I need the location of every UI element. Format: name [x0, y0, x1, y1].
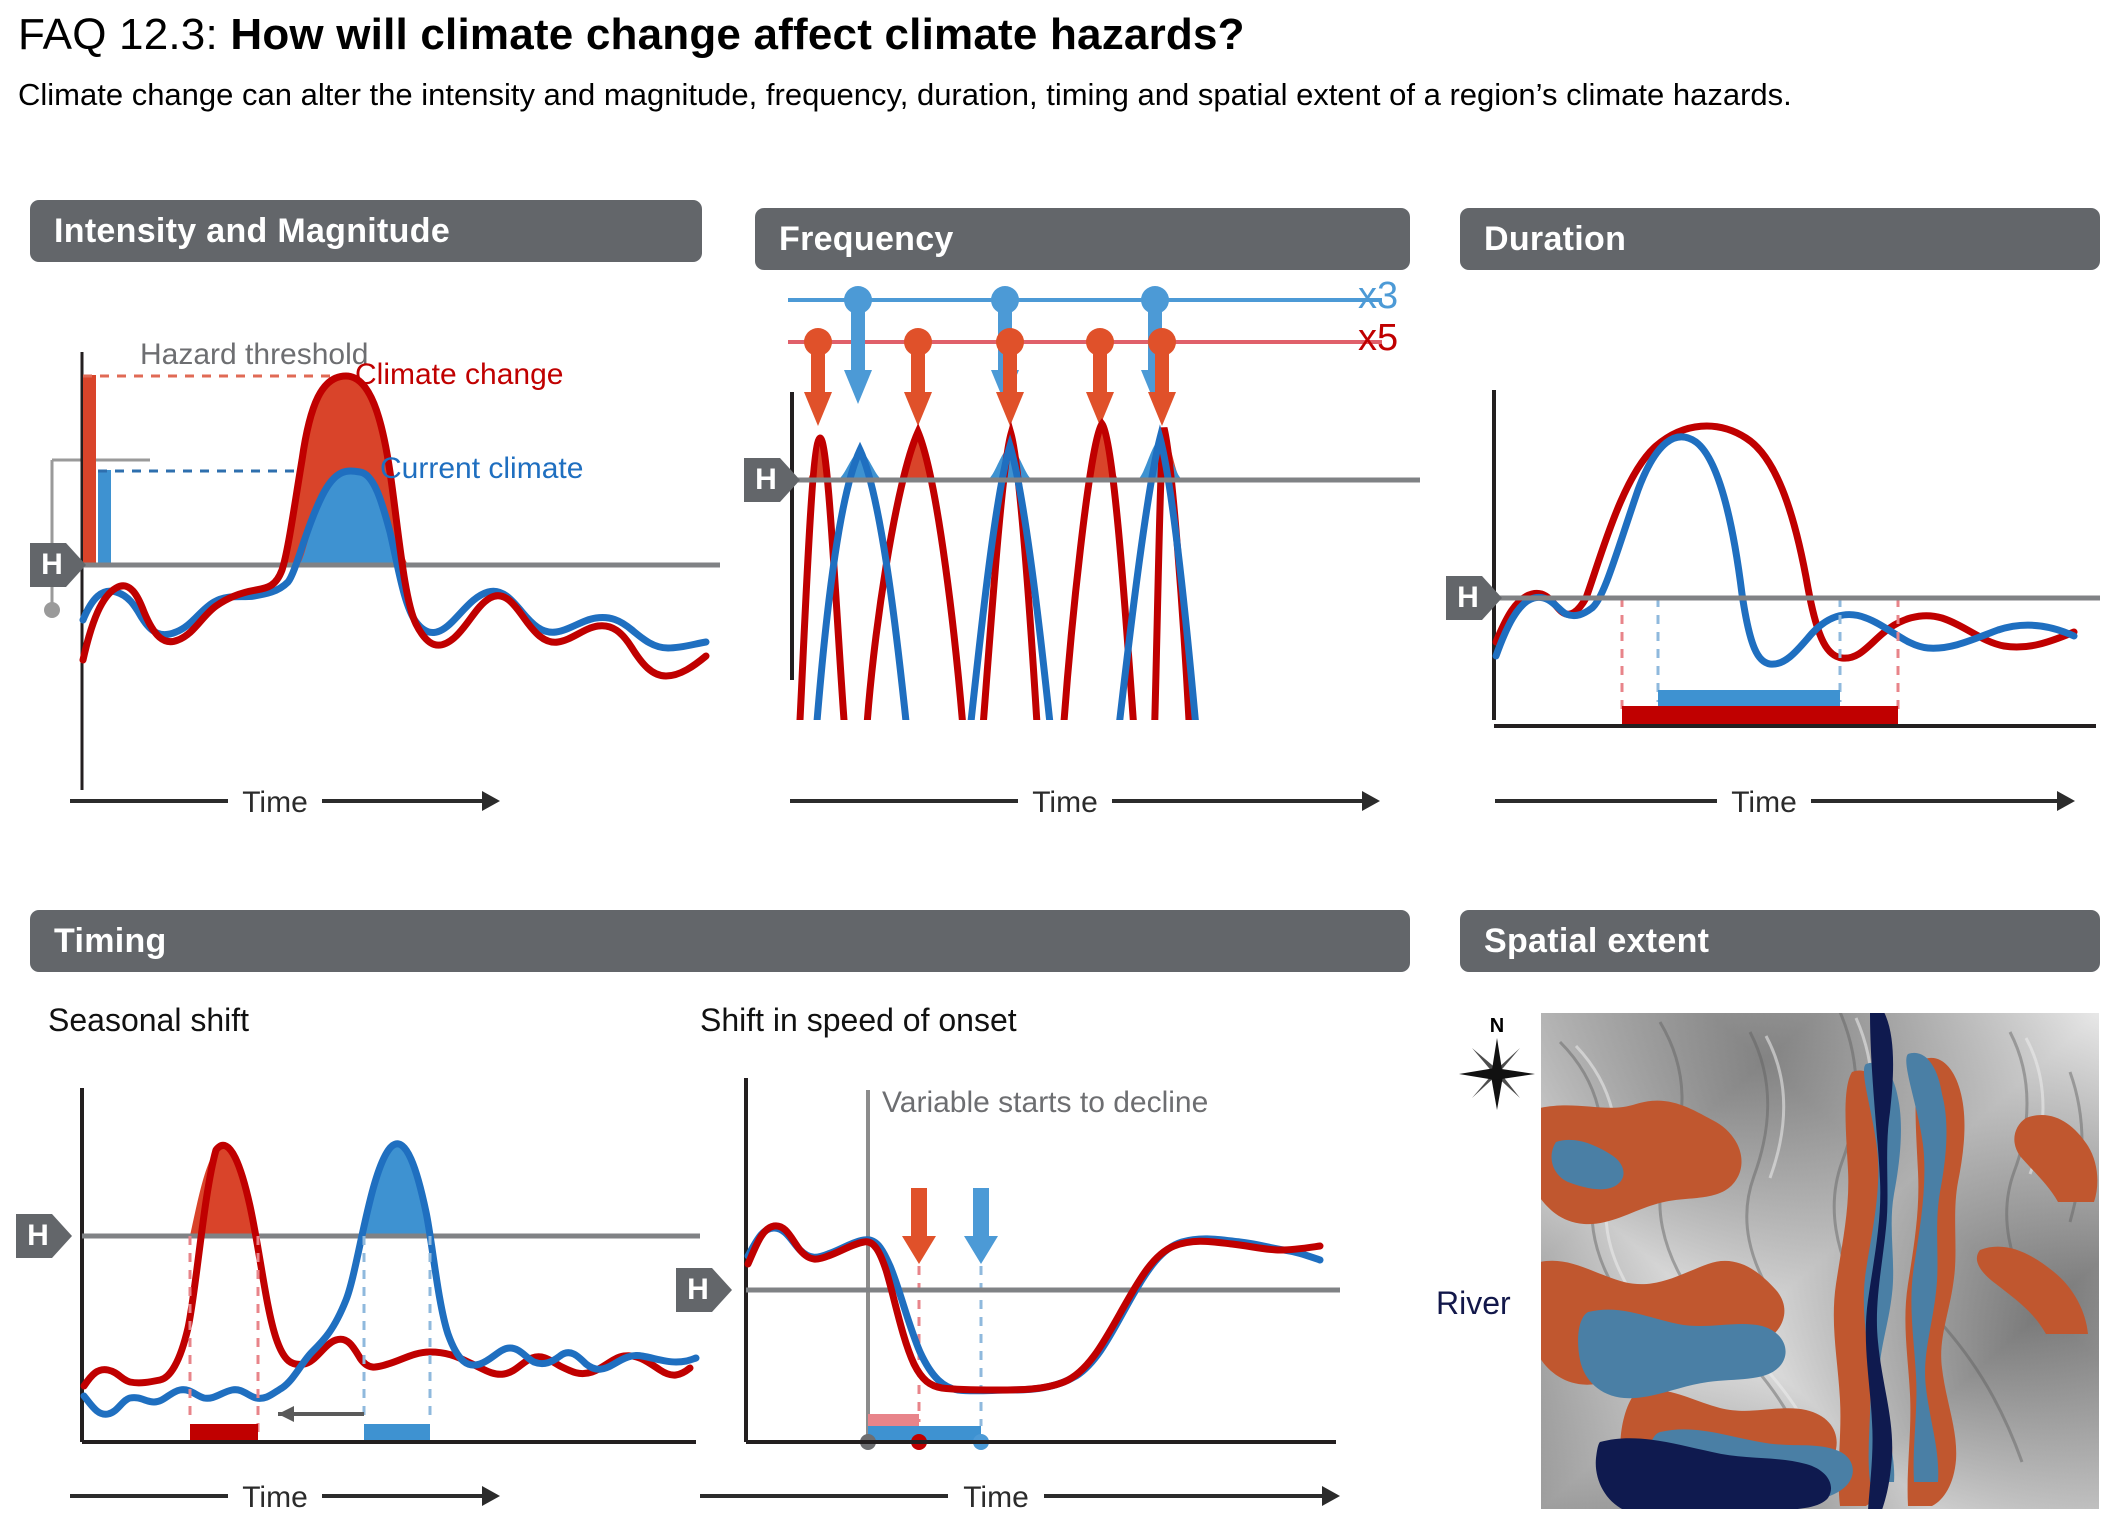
timing-subhead-onset: Shift in speed of onset [700, 1002, 1017, 1039]
event-bar-current-climate-seasonal [364, 1424, 430, 1442]
panel-header-timing: Timing [30, 910, 1410, 972]
event-bar-climate-change-seasonal [190, 1424, 258, 1442]
panel-header-spatial: Spatial extent [1460, 910, 2100, 972]
line-duration-blue [1496, 437, 2074, 664]
title-prefix: FAQ 12.3: [18, 10, 218, 59]
onset-arrow-red [902, 1188, 936, 1264]
panel-header-frequency-label: Frequency [779, 220, 954, 259]
hazard-marker-seasonal: H [16, 1210, 72, 1262]
time-axis-duration: Time [1495, 780, 2075, 822]
compass-north-label: N [1490, 1015, 1504, 1037]
panel-header-timing-label: Timing [54, 922, 167, 961]
time-axis-frequency: Time [790, 780, 1380, 822]
panel-header-intensity: Intensity and Magnitude [30, 200, 702, 262]
hazard-marker-duration-label: H [1446, 572, 1490, 624]
hazard-marker-intensity-label: H [30, 539, 74, 591]
map-legend-river: River [1436, 1285, 1511, 1322]
title-question: How will climate change affect climate h… [230, 10, 1244, 59]
hazard-marker-onset: H [676, 1264, 732, 1316]
onset-bar-climate-change [868, 1414, 919, 1426]
line-onset-red [748, 1226, 1320, 1390]
seasonal-shift-arrow [278, 1406, 364, 1422]
chart-onset-shift [700, 1070, 1340, 1480]
line-frequency-blue [808, 438, 1204, 915]
panel-header-spatial-label: Spatial extent [1484, 922, 1709, 961]
decline-label: Variable starts to decline [882, 1086, 1208, 1120]
hazard-marker-duration: H [1446, 572, 1502, 624]
timing-subhead-seasonal: Seasonal shift [48, 1002, 249, 1039]
series-label-climate-change: Climate change [355, 358, 563, 392]
line-duration-red [1496, 426, 2074, 658]
hazard-threshold-label: Hazard threshold [140, 338, 368, 372]
time-axis-frequency-label: Time [1032, 786, 1098, 819]
compass-rose-icon: N [1452, 1010, 1542, 1120]
panel-header-duration: Duration [1460, 208, 2100, 270]
frequency-count-blue: x3 [1358, 275, 1398, 318]
hazard-marker-onset-label: H [676, 1264, 720, 1316]
hazard-marker-seasonal-label: H [16, 1210, 60, 1262]
frequency-count-red: x5 [1358, 317, 1398, 360]
panel-header-frequency: Frequency [755, 208, 1410, 270]
hazard-marker-frequency-label: H [744, 454, 788, 506]
panel-header-duration-label: Duration [1484, 220, 1626, 259]
chart-seasonal-shift [40, 1080, 700, 1480]
time-axis-intensity-label: Time [242, 786, 308, 819]
chart-duration [1470, 380, 2100, 800]
time-axis-intensity: Time [70, 780, 500, 822]
map-spatial-extent [1540, 1012, 2100, 1510]
panel-header-intensity-label: Intensity and Magnitude [54, 212, 450, 251]
page-subtitle: Climate change can alter the intensity a… [18, 74, 1918, 115]
hazard-marker-frequency: H [744, 454, 800, 506]
time-axis-onset: Time [700, 1475, 1340, 1517]
magnitude-bar-current-climate [98, 470, 111, 565]
onset-arrow-blue [964, 1188, 998, 1264]
time-axis-onset-label: Time [963, 1481, 1029, 1514]
chart-frequency [770, 280, 1420, 780]
page-title: FAQ 12.3: How will climate change affect… [18, 10, 2098, 60]
hazard-marker-intensity: H [30, 539, 86, 591]
series-label-current-climate: Current climate [380, 452, 583, 486]
chart-intensity [30, 320, 720, 840]
magnitude-bar-climate-change [83, 375, 96, 565]
duration-bar-climate-change [1622, 706, 1898, 726]
duration-bar-current-climate [1658, 690, 1840, 706]
time-axis-seasonal-label: Time [242, 1481, 308, 1514]
time-axis-seasonal: Time [70, 1475, 500, 1517]
time-axis-duration-label: Time [1731, 786, 1797, 819]
